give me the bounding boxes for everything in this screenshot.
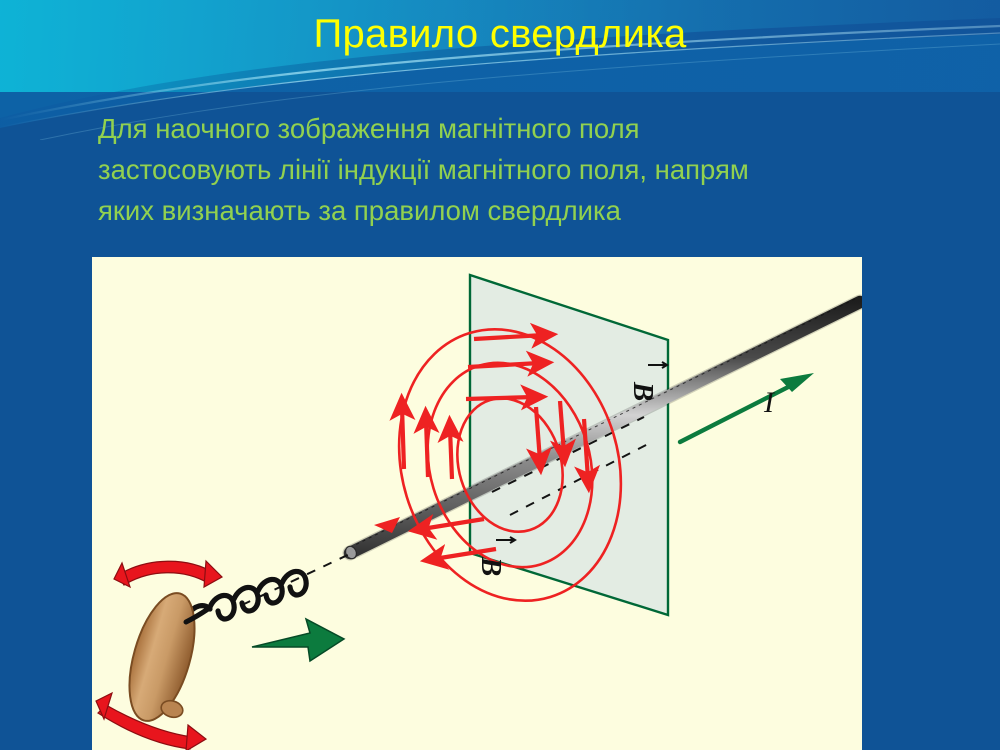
rotation-arrow-top — [114, 561, 222, 587]
figure-panel: B B I — [92, 257, 862, 750]
slide-root: Правило свердлика Для наочного зображенн… — [0, 0, 1000, 750]
b-label-top-text: B — [627, 381, 659, 401]
body-paragraph: Для наочного зображення магнітного поля … — [98, 108, 918, 231]
drill-translation-arrow — [252, 619, 344, 661]
body-line-1: Для наочного зображення магнітного поля — [98, 108, 918, 149]
current-label-text: I — [763, 386, 776, 419]
drill-rule-diagram: B B I — [92, 257, 862, 750]
body-line-3: яких визначають за правилом свердлика — [98, 190, 918, 231]
page-title: Правило свердлика — [0, 10, 1000, 58]
b-label-bottom-text: B — [475, 556, 507, 576]
body-line-2: застосовують лінії індукції магнітного п… — [98, 149, 918, 190]
gimlet-drill — [117, 571, 306, 728]
